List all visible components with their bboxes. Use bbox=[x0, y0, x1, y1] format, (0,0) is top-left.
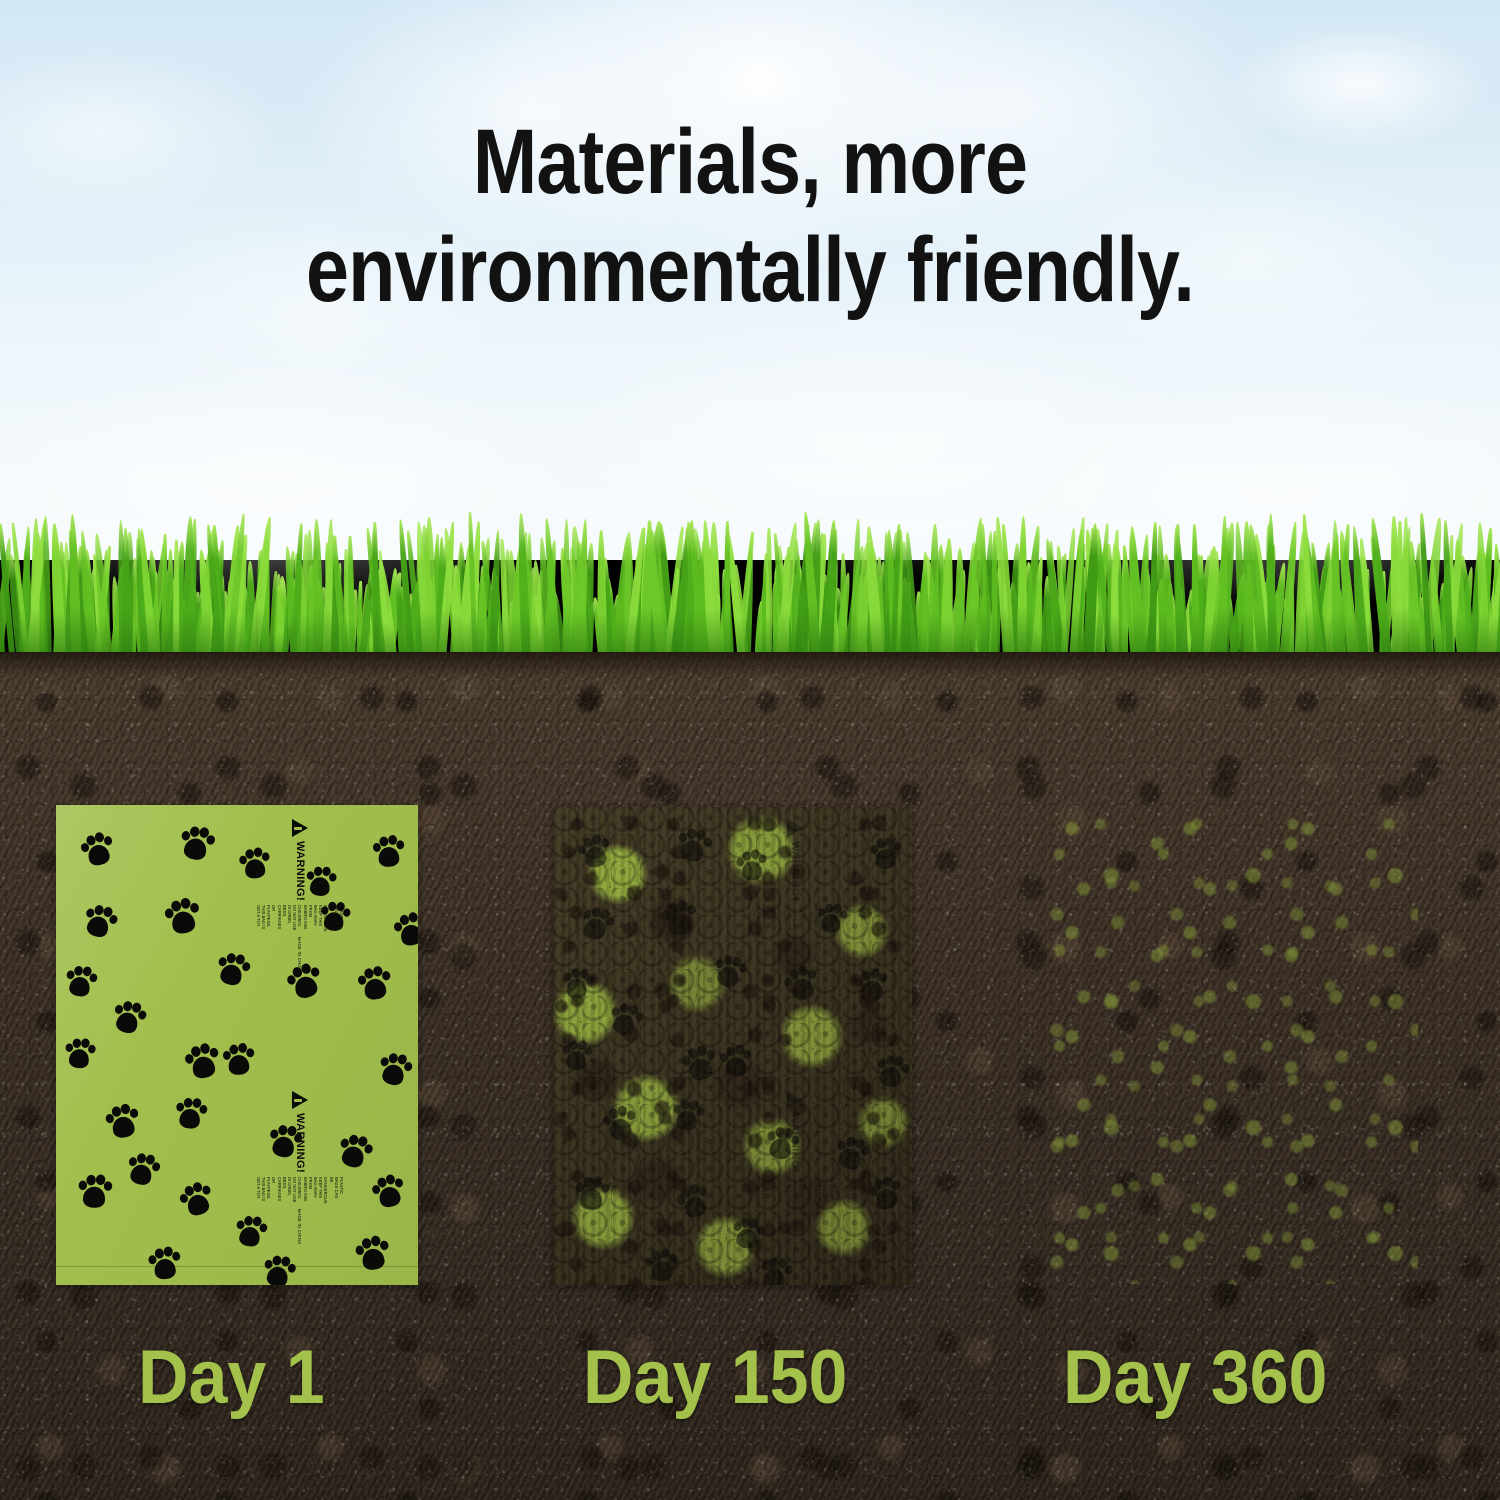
paw-print-icon bbox=[77, 829, 118, 870]
paw-print-icon bbox=[374, 1049, 415, 1090]
decay-soil-veil bbox=[553, 807, 912, 1285]
paw-print-icon bbox=[103, 1102, 144, 1143]
paw-print-icon bbox=[643, 1247, 680, 1284]
grass-row bbox=[0, 505, 1500, 670]
grass-blade bbox=[423, 517, 436, 670]
warning-triangle-icon bbox=[787, 819, 803, 837]
grass-blade bbox=[596, 529, 606, 670]
warning-label-top: WARNING! PLASTIC BAGS CAN BE DANGEROUS. … bbox=[256, 819, 344, 972]
paw-print-icon bbox=[574, 831, 615, 872]
paw-print-icon bbox=[576, 903, 619, 946]
paw-print-icon bbox=[605, 999, 647, 1041]
paw-print-icon bbox=[176, 1179, 219, 1222]
paw-print-icon bbox=[221, 1042, 257, 1078]
bag-brand-line: MADE IN CHINA bbox=[297, 1209, 302, 1245]
warning-label-top: WARNING! PLASTIC BAGS CAN BE DANGEROUS. … bbox=[751, 819, 839, 933]
paw-print-icon bbox=[780, 962, 824, 1006]
paw-print-icon bbox=[709, 951, 750, 992]
paw-print-icon bbox=[600, 1104, 641, 1145]
grass-blade bbox=[372, 522, 380, 670]
paw-print-icon bbox=[62, 1036, 97, 1071]
warning-body-text: PLASTIC BAGS CAN BE DANGEROUS. KEEP THIS… bbox=[256, 1177, 344, 1205]
headline-line-1: Materials, more bbox=[120, 108, 1380, 216]
headline-line-2: environmentally friendly. bbox=[120, 216, 1380, 324]
stage-label-day-150: Day 150 bbox=[583, 1340, 847, 1416]
warning-body-text: PLASTIC BAGS CAN BE DANGEROUS. KEEP THIS… bbox=[751, 1177, 839, 1205]
stage-label-day-1: Day 1 bbox=[138, 1340, 325, 1416]
paw-print-icon bbox=[182, 1041, 225, 1084]
paw-print-icon bbox=[868, 836, 904, 872]
paw-print-icon bbox=[871, 1051, 912, 1092]
paw-print-icon bbox=[108, 997, 150, 1039]
paw-print-icon bbox=[679, 1043, 722, 1086]
paw-print-icon bbox=[659, 898, 702, 941]
paw-print-icon bbox=[176, 823, 218, 865]
paw-print-icon bbox=[756, 1254, 796, 1285]
warning-triangle-icon bbox=[292, 819, 308, 837]
biodegradable-bag-infographic: Materials, more environmentally friendly… bbox=[0, 0, 1500, 1500]
paw-print-icon bbox=[559, 1038, 594, 1073]
warning-label-bottom: WARNING! PLASTIC BAGS CAN BE DANGEROUS. … bbox=[256, 1091, 344, 1244]
paw-print-icon bbox=[673, 825, 715, 867]
paw-print-icon bbox=[669, 1097, 706, 1134]
paw-print-icon bbox=[852, 966, 891, 1005]
paw-print-icon bbox=[259, 1252, 299, 1285]
decay-speckle-overlay bbox=[553, 807, 912, 1285]
warning-body-text: PLASTIC BAGS CAN BE DANGEROUS. KEEP THIS… bbox=[256, 905, 344, 933]
paw-print-icon bbox=[62, 963, 100, 1001]
paw-print-icon bbox=[559, 965, 597, 1003]
bag-stage-day-150: WARNING! PLASTIC BAGS CAN BE DANGEROUS. … bbox=[553, 807, 912, 1285]
paw-print-icon bbox=[76, 1173, 114, 1211]
paw-print-icon bbox=[212, 949, 253, 990]
paw-print-icon bbox=[866, 1174, 907, 1215]
paw-print-icon bbox=[369, 1172, 410, 1213]
grass-blade bbox=[173, 540, 179, 670]
paw-print-icon bbox=[673, 1181, 716, 1224]
paw-print-icon bbox=[122, 1149, 163, 1190]
soil-top-edge bbox=[0, 652, 1500, 678]
paw-print-icon bbox=[718, 1044, 754, 1080]
paw-print-icon bbox=[573, 1175, 611, 1213]
grass-blade bbox=[1267, 513, 1277, 670]
warning-heading: WARNING! bbox=[294, 1113, 306, 1173]
bag-stage-day-1: WARNING! PLASTIC BAGS CAN BE DANGEROUS. … bbox=[56, 805, 418, 1285]
grass-blade bbox=[724, 521, 730, 670]
grass-blade bbox=[1190, 524, 1199, 670]
warning-heading: WARNING! bbox=[294, 841, 306, 901]
warning-body-text: PLASTIC BAGS CAN BE DANGEROUS. KEEP THIS… bbox=[751, 905, 839, 933]
paw-print-icon bbox=[79, 901, 122, 944]
paw-print-icon bbox=[172, 1095, 209, 1132]
grass-blade bbox=[563, 519, 571, 670]
headline: Materials, more environmentally friendly… bbox=[0, 108, 1500, 324]
paw-print-icon bbox=[162, 896, 205, 939]
paw-print-icon bbox=[355, 964, 394, 1003]
warning-heading: WARNING! bbox=[789, 841, 801, 901]
paw-print-icon bbox=[391, 910, 418, 950]
paw-print-icon bbox=[146, 1245, 183, 1282]
grass-blade bbox=[30, 518, 40, 670]
bag-stage-day-360 bbox=[1046, 810, 1418, 1284]
bag-sheen bbox=[56, 805, 418, 1285]
warning-label-bottom: WARNING! PLASTIC BAGS CAN BE DANGEROUS. … bbox=[751, 1091, 839, 1205]
bag-brand-line: MADE IN CHINA bbox=[297, 937, 302, 973]
bag-fold-line bbox=[56, 1266, 418, 1267]
warning-heading: WARNING! bbox=[789, 1113, 801, 1173]
paw-print-icon bbox=[353, 1234, 393, 1274]
grass-blade bbox=[766, 528, 772, 670]
warning-triangle-icon bbox=[787, 1091, 803, 1109]
stage-label-day-360: Day 360 bbox=[1063, 1340, 1327, 1416]
paw-print-icon bbox=[371, 834, 407, 870]
warning-triangle-icon bbox=[292, 1091, 308, 1109]
paw-print-icon bbox=[729, 1215, 767, 1253]
